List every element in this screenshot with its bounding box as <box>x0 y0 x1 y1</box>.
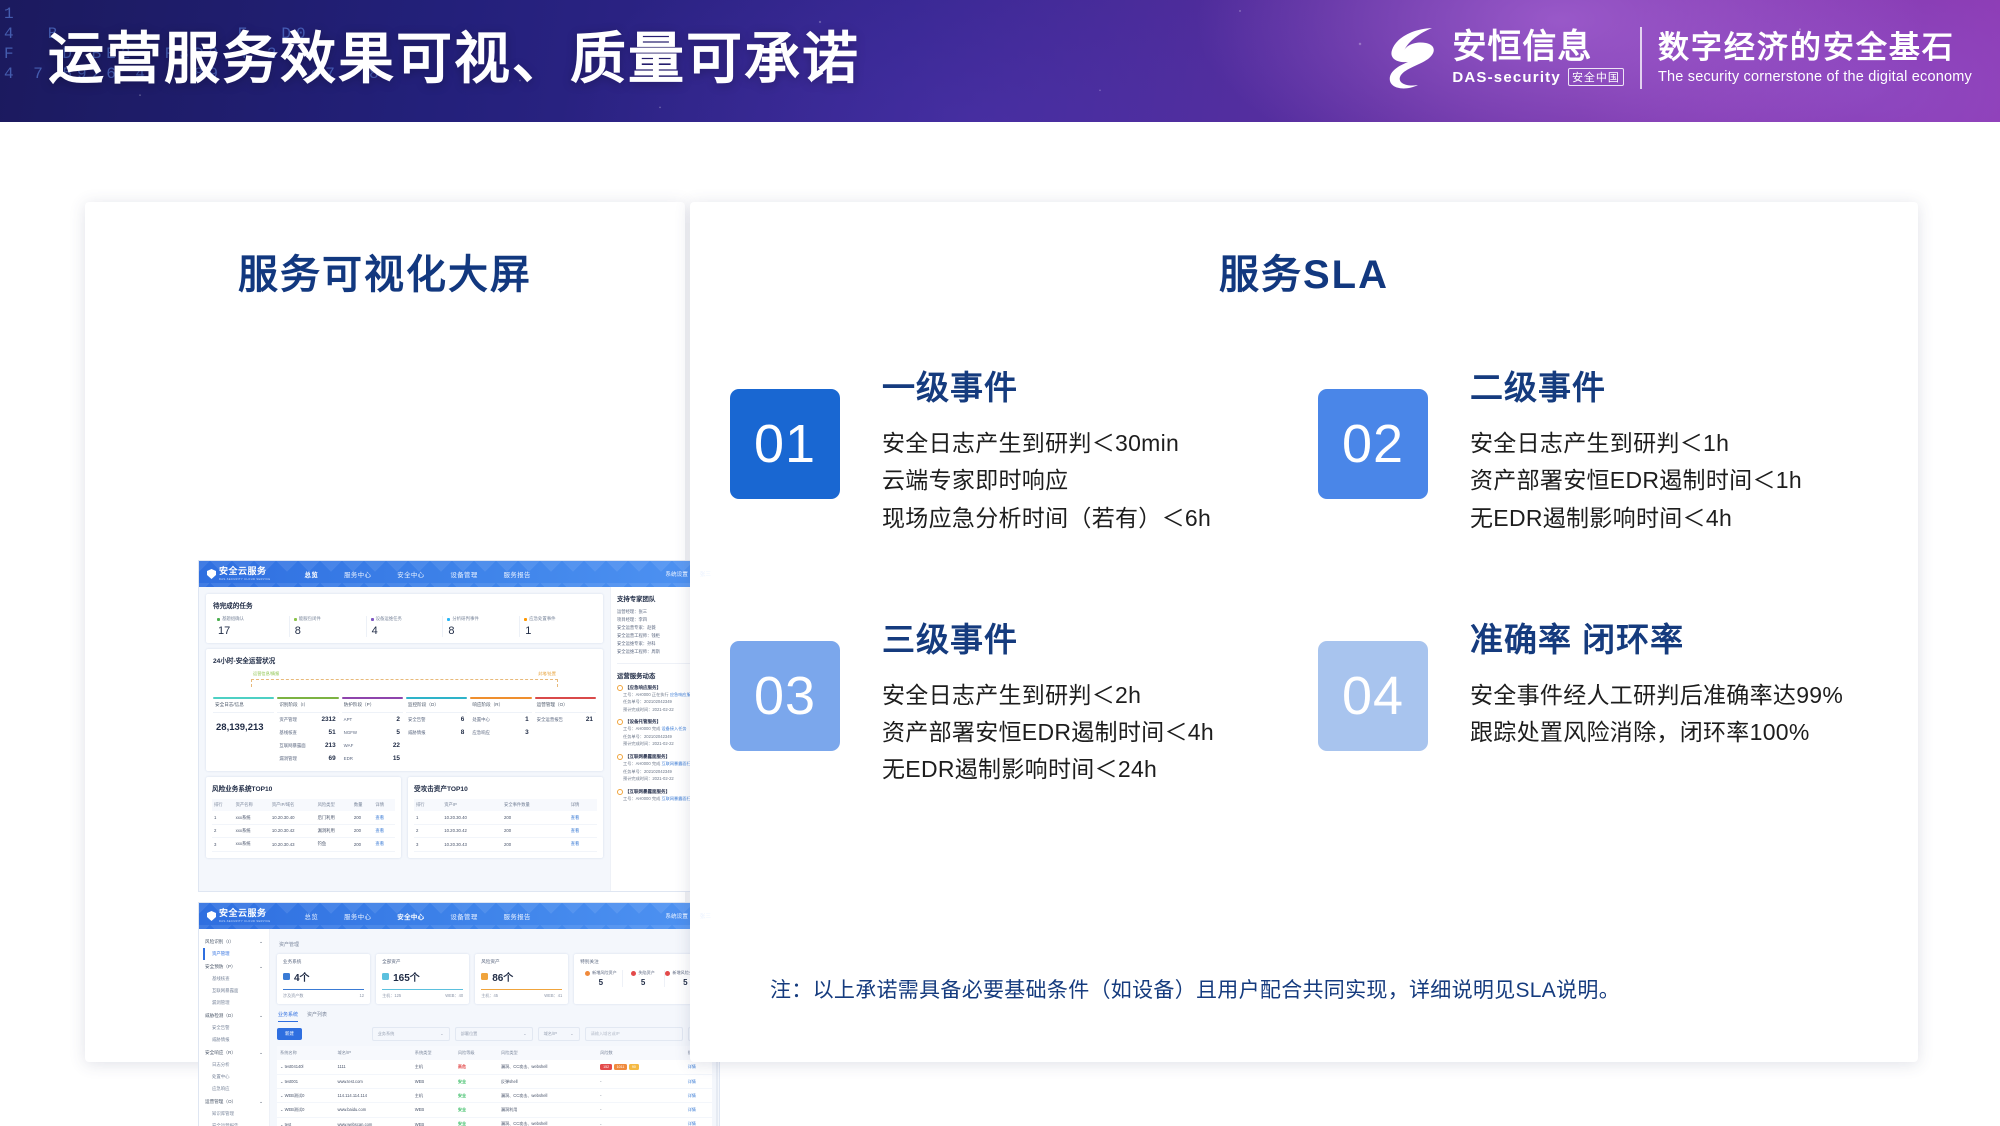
sla-card-01: 01 一级事件 安全日志产生到研判＜30min 云端专家即时响应 现场应急分析时… <box>730 357 1292 537</box>
risk-count: - <box>597 1117 685 1126</box>
table-row[interactable]: ⌄ test001 www.test.com WEB 安全 反弹shell - … <box>277 1074 712 1088</box>
db1-user-menu[interactable]: 张三 <box>700 570 711 578</box>
db1-logo-sub: DAS-SECURITY CLOUD SERVICE <box>219 578 271 581</box>
db1-flow-val: 8 <box>461 729 465 736</box>
logo-slogan-en: The security cornerstone of the digital … <box>1658 69 1972 85</box>
db2-side-nav[interactable]: 风险识别（I）⌄ 资产管理 安全预防（P）⌄ 基线核查 互联网暴露面 漏洞管理 … <box>199 929 270 1126</box>
db2-tab-systems[interactable]: 业务系统 <box>278 1011 298 1022</box>
th: 资产IP <box>442 799 502 811</box>
db1-flow-key: 基线核查 <box>279 730 297 736</box>
risk-type: 漏洞、CC攻击、webshell <box>498 1060 597 1074</box>
expand-icon[interactable]: ⌄ <box>280 1064 283 1069</box>
db2-menu-item[interactable]: 安全中心 <box>397 912 424 921</box>
db1-flow-card: 24小时-安全运营状况 运营信息/情报 封堵/处置 安全日志/信息 28 <box>206 649 603 771</box>
logo-divider <box>1640 27 1642 89</box>
db1-settings-link[interactable]: 系统设置 <box>665 570 687 578</box>
table-row[interactable]: 1 xxx系统 10.20.30.40 后门利用 200 查看 <box>212 811 395 824</box>
db1-event-eta: 预计完成时间：2021-02-22 <box>623 741 674 746</box>
db2-nav-group[interactable]: 安全预防（P）⌄ <box>203 960 265 973</box>
db2-settings-link[interactable]: 系统设置 <box>665 912 687 920</box>
right-panel: 服务SLA 01 一级事件 安全日志产生到研判＜30min 云端专家即时响应 现… <box>690 202 1918 1062</box>
alert-icon <box>617 789 623 795</box>
sla-card-title: 准确率 闭环率 <box>1470 613 1843 661</box>
db1-flow-col: 响应阶段（R） 处置中心1 应急响应3 <box>470 697 531 765</box>
db1-flow-head: 安全日志/信息 <box>213 699 274 713</box>
db2-kpi-value: 4个 <box>294 969 310 984</box>
right-panel-heading: 服务SLA <box>690 242 1918 300</box>
db1-flow-key: 资产管理 <box>279 717 297 723</box>
db2-nav-item[interactable]: 处置中心 <box>203 1071 265 1083</box>
db2-nav-group-label: 运营管理（O） <box>205 1099 236 1105</box>
db1-flow-key: 应急响应 <box>472 730 490 736</box>
db1-flow-title: 24小时-安全运营状况 <box>213 655 596 665</box>
db2-nav-group-label: 风险识别（I） <box>205 939 234 945</box>
slide: 1 4 B F D0 F D BE2 F3D0 4 2 4 7 5926 4 8… <box>0 0 2000 1126</box>
db2-focus-icon <box>631 971 636 976</box>
db1-flow-val: 69 <box>329 755 336 762</box>
db1-flow-col: 监控阶段（D） 安全告警6 威胁情报8 <box>406 697 467 765</box>
td: 1 <box>414 811 442 824</box>
db2-nav-item[interactable]: 漏洞管理 <box>203 997 265 1009</box>
db1-flow-row[interactable]: 互联网暴露面213 <box>277 739 338 752</box>
db2-filter-location[interactable]: 部署位置⌄ <box>455 1027 533 1041</box>
td: xxx系统 <box>234 824 270 837</box>
db2-kpi-title: 全部资产 <box>382 959 463 965</box>
db2-user-menu[interactable]: 张三 <box>700 912 711 920</box>
table-row[interactable]: ⌄ WEB测试0 114.114.114.114 主机 安全 漏洞、CC攻击、w… <box>277 1089 712 1103</box>
db1-flow-label-left: 运营信息/情报 <box>253 671 279 677</box>
chevron-down-icon: ⌄ <box>259 964 263 970</box>
logo-brand-en: DAS-security <box>1452 69 1561 86</box>
db1-task-stat[interactable]: 设备运维任务 4 <box>367 616 444 637</box>
db1-flow-row[interactable]: 漏洞管理69 <box>277 752 338 765</box>
db2-nav-item[interactable]: 基线核查 <box>203 973 265 985</box>
db1-event-ticket: 任务单号：202102042349 <box>623 769 672 774</box>
th[interactable]: 系统类型 <box>412 1046 455 1060</box>
db2-focus-icon <box>665 971 670 976</box>
db1-tasks-card: 待完成的任务 基题组确认 17 能服包闭件 8 <box>206 594 603 643</box>
db1-menu-item[interactable]: 设备管理 <box>450 570 477 579</box>
alert-icon <box>617 685 623 691</box>
db2-nav-item[interactable]: 威胁情报 <box>203 1034 265 1046</box>
page-banner: 1 4 B F D0 F D BE2 F3D0 4 2 4 7 5926 4 8… <box>0 0 2000 122</box>
td: 钓鱼 <box>316 838 352 851</box>
td: 200 <box>352 824 374 837</box>
view-link[interactable]: 查看 <box>569 838 597 851</box>
th: 详情 <box>569 799 597 811</box>
expand-icon[interactable]: ⌄ <box>280 1079 283 1084</box>
detail-link[interactable]: 详情 <box>685 1103 712 1117</box>
db1-tasks-title: 待完成的任务 <box>213 600 596 610</box>
risk-level: 高危 <box>455 1060 498 1074</box>
db2-focus-item[interactable]: 失陷资产 5 <box>623 970 665 987</box>
table-row[interactable]: 2 xxx系统 10.20.30.42 漏洞利用 200 查看 <box>212 824 395 837</box>
db2-nav-group[interactable]: 安全响应（R）⌄ <box>203 1046 265 1059</box>
db2-menu-item[interactable]: 服务中心 <box>344 912 371 921</box>
db1-attacked-table: 受攻击资产TOP10 排行 资产IP 安全事件数量 详情 <box>408 777 603 857</box>
detail-link[interactable]: 详情 <box>685 1089 712 1103</box>
db1-flow-val: 21 <box>586 716 593 723</box>
db1-event-status: 正在执行 <box>652 692 669 697</box>
db1-flow-val: 5 <box>396 729 400 736</box>
th: 风险类型 <box>498 1046 597 1060</box>
asset-type: WEB <box>412 1117 455 1126</box>
db1-event-eta: 预计完成时间：2021-02-22 <box>623 707 674 712</box>
db2-kpi-foot-key: 涉及资产数 <box>283 993 303 999</box>
asset-host: 1111 <box>335 1060 412 1074</box>
logo-brand-block: 安恒信息 DAS-security 安全中国 <box>1452 30 1624 87</box>
db1-flow-key: 安全运营报告 <box>537 717 563 723</box>
db2-nav-group[interactable]: 威胁检测（D）⌄ <box>203 1009 265 1022</box>
detail-link[interactable]: 详情 <box>685 1060 712 1074</box>
db1-flow-row[interactable]: NGFW5 <box>342 726 403 739</box>
db2-focus-label: 失陷资产 <box>638 970 654 976</box>
db2-nav-group[interactable]: 运营管理（O）⌄ <box>203 1095 265 1108</box>
db1-task-label: 应急处置事件 <box>529 616 555 622</box>
asset-name: test001 <box>285 1079 298 1084</box>
db1-tasks-stats: 基题组确认 17 能服包闭件 8 设备运维任务 4 <box>213 616 596 637</box>
db2-nav-item[interactable]: 知识库管理 <box>203 1108 265 1120</box>
db2-nav-item[interactable]: 安全告警 <box>203 1022 265 1034</box>
sla-card-title: 二级事件 <box>1470 361 1802 409</box>
table-row[interactable]: ⌄ WEB测试0 www.baidu.com WEB 安全 漏洞利用 - 详情 <box>277 1103 712 1117</box>
db1-flow-row[interactable]: 威胁情报8 <box>406 726 467 739</box>
td: 10.20.30.43 <box>270 838 316 851</box>
db1-menu-item[interactable]: 服务报告 <box>504 570 531 579</box>
db1-flow-head: 运营管理（O） <box>535 699 596 713</box>
sla-footnote: 注：以上承诺需具备必要基础条件（如设备）且用户配合共同实现，详细说明见SLA说明… <box>770 974 1620 1004</box>
td: 漏洞利用 <box>316 824 352 837</box>
db2-tabs[interactable]: 业务系统 资产列表 <box>278 1011 712 1022</box>
db1-flow-val: 2 <box>396 716 400 723</box>
db2-nav-item[interactable]: 应急响应 <box>203 1083 265 1095</box>
sla-card-04: 04 准确率 闭环率 安全事件经人工研判后准确率达99% 跟踪处置风险消除，闭环… <box>1318 609 1880 789</box>
db1-menu[interactable]: 总览 服务中心 安全中心 设备管理 服务报告 <box>305 570 531 579</box>
db1-flow-row[interactable]: 安全告警6 <box>406 713 467 726</box>
db1-event-order-no: 工号：AH0000 <box>623 796 651 801</box>
db2-filter-system[interactable]: 业务系统⌄ <box>372 1027 450 1041</box>
db2-nav-group-label: 安全响应（R） <box>205 1050 236 1056</box>
dashboard-screenshot-overview[interactable]: 安全云服务 DAS-SECURITY CLOUD SERVICE 总览 服务中心… <box>198 560 720 892</box>
db2-kpi-value: 165个 <box>393 969 420 984</box>
db2-nav-group-label: 安全预防（P） <box>205 964 236 970</box>
table-row[interactable]: 1 10.20.30.40 200 查看 <box>414 811 597 824</box>
sla-card-grid: 01 一级事件 安全日志产生到研判＜30min 云端专家即时响应 现场应急分析时… <box>730 357 1880 789</box>
risk-count: 152101190 <box>597 1060 685 1074</box>
sla-card-line: 安全日志产生到研判＜1h <box>1470 425 1802 462</box>
db1-task-label: 能服包闭件 <box>299 616 321 622</box>
logo-slogan-cn: 数字经济的安全基石 <box>1658 31 1972 65</box>
chevron-down-icon: ⌄ <box>440 1031 444 1037</box>
chevron-down-icon: ⌄ <box>259 1099 263 1105</box>
db2-menu[interactable]: 总览 服务中心 安全中心 设备管理 服务报告 <box>305 912 531 921</box>
db2-kpi-title: 风险资产 <box>481 959 562 965</box>
db1-flow-row[interactable]: 安全运营报告21 <box>535 713 596 726</box>
sla-number-badge: 02 <box>1318 389 1428 499</box>
risk-count: - <box>597 1089 685 1103</box>
left-panel: 服务可视化大屏 安全云服务 DAS-SECURITY CLOUD SERVICE… <box>85 202 685 1062</box>
db1-task-value: 8 <box>448 625 519 637</box>
table-row[interactable]: 3 10.20.30.43 200 查看 <box>414 838 597 851</box>
db1-event-link[interactable]: 设备接入任务 <box>661 726 686 731</box>
db1-task-label: 基题组确认 <box>222 616 244 622</box>
db1-flow-val: 51 <box>329 729 336 736</box>
db2-focus-label: 新增风险资产 <box>592 970 617 976</box>
db1-flow-row[interactable]: 处置中心1 <box>470 713 531 726</box>
db1-task-value: 1 <box>525 625 596 637</box>
td: 200 <box>352 811 374 824</box>
th[interactable]: 风险等级 <box>455 1046 498 1060</box>
db1-flow-row[interactable]: 资产管理2312 <box>277 713 338 726</box>
expand-icon[interactable]: ⌄ <box>280 1122 283 1126</box>
table-row[interactable]: 3 xxx系统 10.20.30.43 钓鱼 200 查看 <box>212 838 395 851</box>
db1-event-status: 完成 <box>652 726 660 731</box>
risk-level: 安全 <box>455 1074 498 1088</box>
view-link[interactable]: 查看 <box>569 824 597 837</box>
db1-event-order-no: 工号：AH0000 <box>623 692 651 697</box>
db1-flow-col: 防护阶段（P） APT2 NGFW5 WAF22 EDR15 <box>342 697 403 765</box>
db1-flow-key: 处置中心 <box>472 717 490 723</box>
db2-nav-item[interactable]: 安全运营报告 <box>203 1120 265 1126</box>
sla-card-line: 资产部署安恒EDR遏制时间＜1h <box>1470 462 1802 499</box>
table-header-row: 排行 资产IP 安全事件数量 详情 <box>414 799 597 811</box>
db1-flow-val: 15 <box>393 755 400 762</box>
db1-event-status: 完成 <box>652 796 660 801</box>
db1-flow-row[interactable]: 应急响应3 <box>470 726 531 739</box>
db1-menu-item[interactable]: 安全中心 <box>397 570 424 579</box>
asset-name: test04140l <box>285 1064 304 1069</box>
db2-nav-item-assets[interactable]: 资产管理 <box>203 948 265 960</box>
sla-card-line: 无EDR遏制影响时间＜24h <box>882 751 1214 788</box>
th[interactable]: 风险数 <box>597 1046 685 1060</box>
db1-task-value: 8 <box>295 625 366 637</box>
sla-card-title: 一级事件 <box>882 361 1211 409</box>
db2-nav-item[interactable]: 日志分析 <box>203 1059 265 1071</box>
db2-kpi-card[interactable]: 风险资产 86个 主机：45WEB：41 <box>475 954 568 1004</box>
db2-toolbar: 新建 业务系统⌄ 部署位置⌄ 域名/IP⌄ 请输入域名或IP 搜索 <box>277 1027 712 1041</box>
td: 10.20.30.42 <box>442 824 502 837</box>
td: 200 <box>502 811 569 824</box>
expand-icon[interactable]: ⌄ <box>280 1093 283 1098</box>
th: 排行 <box>414 799 442 811</box>
asset-host: www.baidu.com <box>335 1103 412 1117</box>
td: 3 <box>212 838 234 851</box>
db2-kpi-icon <box>382 973 389 980</box>
db1-flow-val: 22 <box>393 742 400 749</box>
db2-kpi-foot-key: 主机：45 <box>481 993 498 999</box>
db1-flow-head: 监控阶段（D） <box>406 699 467 713</box>
db1-flow-key: EDR <box>344 756 353 761</box>
dashboard-screenshot-assets[interactable]: 安全云服务 DAS-SECURITY CLOUD SERVICE 总览 服务中心… <box>198 902 720 1126</box>
sla-card-title: 三级事件 <box>882 613 1214 661</box>
logo-brand-cn: 安恒信息 <box>1452 30 1624 66</box>
db1-task-stat[interactable]: 基题组确认 17 <box>213 616 290 637</box>
sla-card-line: 云端专家即时响应 <box>882 462 1211 499</box>
th: 资产IP/域名 <box>270 799 316 811</box>
db1-navbar: 安全云服务 DAS-SECURITY CLOUD SERVICE 总览 服务中心… <box>199 561 719 587</box>
db1-risk-table-title: 风险业务系统TOP10 <box>212 783 395 793</box>
db1-flow-row[interactable]: EDR15 <box>342 752 403 765</box>
db1-flow-head: 防护阶段（P） <box>342 699 403 713</box>
chevron-down-icon: ⌄ <box>259 939 263 945</box>
db2-asset-table: 系统名称 域名/IP 系统类型 风险等级 风险类型 风险数 操作 ⌄ test0 <box>277 1046 712 1126</box>
td: xxx系统 <box>234 811 270 824</box>
db1-menu-item[interactable]: 服务中心 <box>344 570 371 579</box>
db2-search-input[interactable]: 请输入域名或IP <box>585 1027 683 1041</box>
db2-kpi-foot-val: 12 <box>360 993 365 999</box>
db2-nav-group[interactable]: 风险识别（I）⌄ <box>203 935 265 948</box>
db2-breadcrumb: 资产管理 <box>277 936 712 954</box>
expand-icon[interactable]: ⌄ <box>280 1107 283 1112</box>
db1-flow-key: NGFW <box>344 730 357 735</box>
db1-flow-row[interactable]: APT2 <box>342 713 403 726</box>
db1-event-order-no: 工号：AH0000 <box>623 761 651 766</box>
db1-event-eta: 预计完成时间：2021-02-22 <box>623 776 674 781</box>
db1-tables: 风险业务系统TOP10 排行 资产名称 资产IP/域名 风险类型 数量 详情 <box>206 777 603 857</box>
db1-shield-icon <box>207 569 216 579</box>
td: 10.20.30.40 <box>442 811 502 824</box>
asset-name: WEB测试0 <box>285 1093 305 1098</box>
risk-type: 反弹shell <box>498 1074 597 1088</box>
db1-flow-col: 识别阶段（I） 资产管理2312 基线核查51 互联网暴露面213 漏洞管理69 <box>277 697 338 765</box>
table-row[interactable]: ⌄ test www.webscan.com WEB 安全 漏洞、CC攻击、we… <box>277 1117 712 1126</box>
db2-kpi-card[interactable]: 业务系统 4个 涉及资产数12 <box>277 954 370 1004</box>
db1-flow-key: 互联网暴露面 <box>279 743 305 749</box>
page-title: 运营服务效果可视、质量可承诺 <box>48 14 860 95</box>
db1-attacked-table-title: 受攻击资产TOP10 <box>414 783 597 793</box>
table-header-row: 系统名称 域名/IP 系统类型 风险等级 风险类型 风险数 操作 <box>277 1046 712 1060</box>
th: 详情 <box>373 799 395 811</box>
db2-logo-sub: DAS-SECURITY CLOUD SERVICE <box>219 920 271 923</box>
db2-kpi-foot-key: 主机：125 <box>382 993 401 999</box>
chevron-down-icon: ⌄ <box>570 1031 574 1037</box>
db2-tab-assets[interactable]: 资产列表 <box>307 1011 327 1022</box>
db1-flow-val: 3 <box>525 729 529 736</box>
detail-link[interactable]: 详情 <box>685 1074 712 1088</box>
db2-logo: 安全云服务 DAS-SECURITY CLOUD SERVICE <box>207 909 271 924</box>
db1-task-value: 4 <box>372 625 443 637</box>
db1-flow-row[interactable]: WAF22 <box>342 739 403 752</box>
td: 200 <box>502 838 569 851</box>
db1-flow-label-right: 封堵/处置 <box>538 671 556 677</box>
db2-kpi-title: 业务系统 <box>283 959 364 965</box>
db1-flow-val: 6 <box>461 716 465 723</box>
db1-flow-col: 运营管理（O） 安全运营报告21 <box>535 697 596 765</box>
view-link[interactable]: 查看 <box>569 811 597 824</box>
db1-flow-head: 响应阶段（R） <box>470 699 531 713</box>
td: 后门利用 <box>316 811 352 824</box>
table-header-row: 排行 资产名称 资产IP/域名 风险类型 数量 详情 <box>212 799 395 811</box>
th: 资产名称 <box>234 799 270 811</box>
db1-logo-text: 安全云服务 <box>219 566 267 576</box>
th: 风险类型 <box>316 799 352 811</box>
risk-count: - <box>597 1103 685 1117</box>
risk-level: 安全 <box>455 1103 498 1117</box>
th: 排行 <box>212 799 234 811</box>
db2-new-button[interactable]: 新建 <box>277 1028 302 1040</box>
chevron-down-icon: ⌄ <box>259 1050 263 1056</box>
db1-task-stat[interactable]: 分析研判事件 8 <box>443 616 520 637</box>
sla-card-line: 无EDR遏制影响时间＜4h <box>1470 500 1802 537</box>
db1-flow-val: 1 <box>525 716 529 723</box>
view-link[interactable]: 查看 <box>373 838 395 851</box>
table-row[interactable]: 2 10.20.30.42 200 查看 <box>414 824 597 837</box>
asset-type: WEB <box>412 1103 455 1117</box>
db2-kpi-foot-key2: WEB：41 <box>544 993 562 999</box>
db1-flow-columns: 安全日志/信息 28,139,213 识别阶段（I） 资产管理2312 基线核查… <box>213 697 596 765</box>
db1-task-stat[interactable]: 能服包闭件 8 <box>290 616 367 637</box>
table-row[interactable]: ⌄ test04140l 1111 主机 高危 漏洞、CC攻击、webshell… <box>277 1060 712 1074</box>
sla-card-line: 现场应急分析时间（若有）＜6h <box>882 500 1211 537</box>
logo-brand-tag: 安全中国 <box>1568 68 1624 86</box>
db2-focus-title: 特别关注 <box>580 959 706 965</box>
td: 200 <box>502 824 569 837</box>
risk-type: 漏洞、CC攻击、webshell <box>498 1117 597 1126</box>
db1-event-ticket: 任务单号：202102042349 <box>623 699 672 704</box>
db2-kpi-row: 业务系统 4个 涉及资产数12 全部资产 165个 主机：125WEB：40 风… <box>277 954 712 1004</box>
db2-menu-item[interactable]: 服务报告 <box>504 912 531 921</box>
db2-focus-value: 5 <box>580 978 621 987</box>
db2-menu-item[interactable]: 总览 <box>305 912 319 921</box>
db1-task-stat[interactable]: 应急处置事件 1 <box>520 616 596 637</box>
db1-log-count: 28,139,213 <box>213 713 274 733</box>
chevron-down-icon: ⌄ <box>523 1031 527 1037</box>
db2-nav-item[interactable]: 互联网暴露面 <box>203 985 265 997</box>
risk-type: 漏洞、CC攻击、webshell <box>498 1089 597 1103</box>
detail-link[interactable]: 详情 <box>685 1117 712 1126</box>
db2-kpi-card[interactable]: 全部资产 165个 主机：125WEB：40 <box>376 954 469 1004</box>
db1-flow-key: 漏洞管理 <box>279 756 297 762</box>
risk-level: 安全 <box>455 1117 498 1126</box>
asset-type: 主机 <box>412 1089 455 1103</box>
db1-task-label: 分析研判事件 <box>452 616 478 622</box>
db2-filter-domain[interactable]: 域名/IP⌄ <box>538 1027 580 1041</box>
db1-event-tag: 【互联网暴露面服务】 <box>625 789 670 795</box>
sla-card-line: 资产部署安恒EDR遏制时间＜4h <box>882 714 1214 751</box>
db1-menu-item[interactable]: 总览 <box>305 570 319 579</box>
db1-event-order-no: 工号：AH0000 <box>623 726 651 731</box>
sla-number-badge: 04 <box>1318 641 1428 751</box>
td: 2 <box>414 824 442 837</box>
risk-type: 漏洞利用 <box>498 1103 597 1117</box>
db1-risk-table: 风险业务系统TOP10 排行 资产名称 资产IP/域名 风险类型 数量 详情 <box>206 777 401 857</box>
db2-kpi-value: 86个 <box>492 969 513 984</box>
asset-name: test <box>285 1122 292 1126</box>
view-link[interactable]: 查看 <box>373 811 395 824</box>
db1-flow-head: 识别阶段（I） <box>277 699 338 713</box>
th: 数量 <box>352 799 374 811</box>
db2-menu-item[interactable]: 设备管理 <box>450 912 477 921</box>
sla-card-line: 跟踪处置风险消除，闭环率100% <box>1470 714 1843 751</box>
db1-logo: 安全云服务 DAS-SECURITY CLOUD SERVICE <box>207 567 271 582</box>
risk-count: - <box>597 1074 685 1088</box>
td: 2 <box>212 824 234 837</box>
view-link[interactable]: 查看 <box>373 824 395 837</box>
db2-kpi-icon <box>481 973 488 980</box>
db2-navbar-right[interactable]: 系统设置 张三 <box>665 912 711 920</box>
db1-flow-col: 安全日志/信息 28,139,213 <box>213 697 274 765</box>
db2-kpi-icon <box>283 973 290 980</box>
db1-flow-row[interactable]: 基线核查51 <box>277 726 338 739</box>
db1-flow-key: WAF <box>344 743 354 748</box>
asset-name: WEB测试0 <box>285 1107 305 1112</box>
td: 10.20.30.40 <box>270 811 316 824</box>
db2-kpi-foot-key2: WEB：40 <box>445 993 463 999</box>
td: xxx系统 <box>234 838 270 851</box>
das-security-swirl-icon <box>1382 23 1444 93</box>
db1-navbar-right[interactable]: 系统设置 张三 <box>665 570 711 578</box>
db2-focus-item[interactable]: 新增风险资产 5 <box>580 970 622 987</box>
